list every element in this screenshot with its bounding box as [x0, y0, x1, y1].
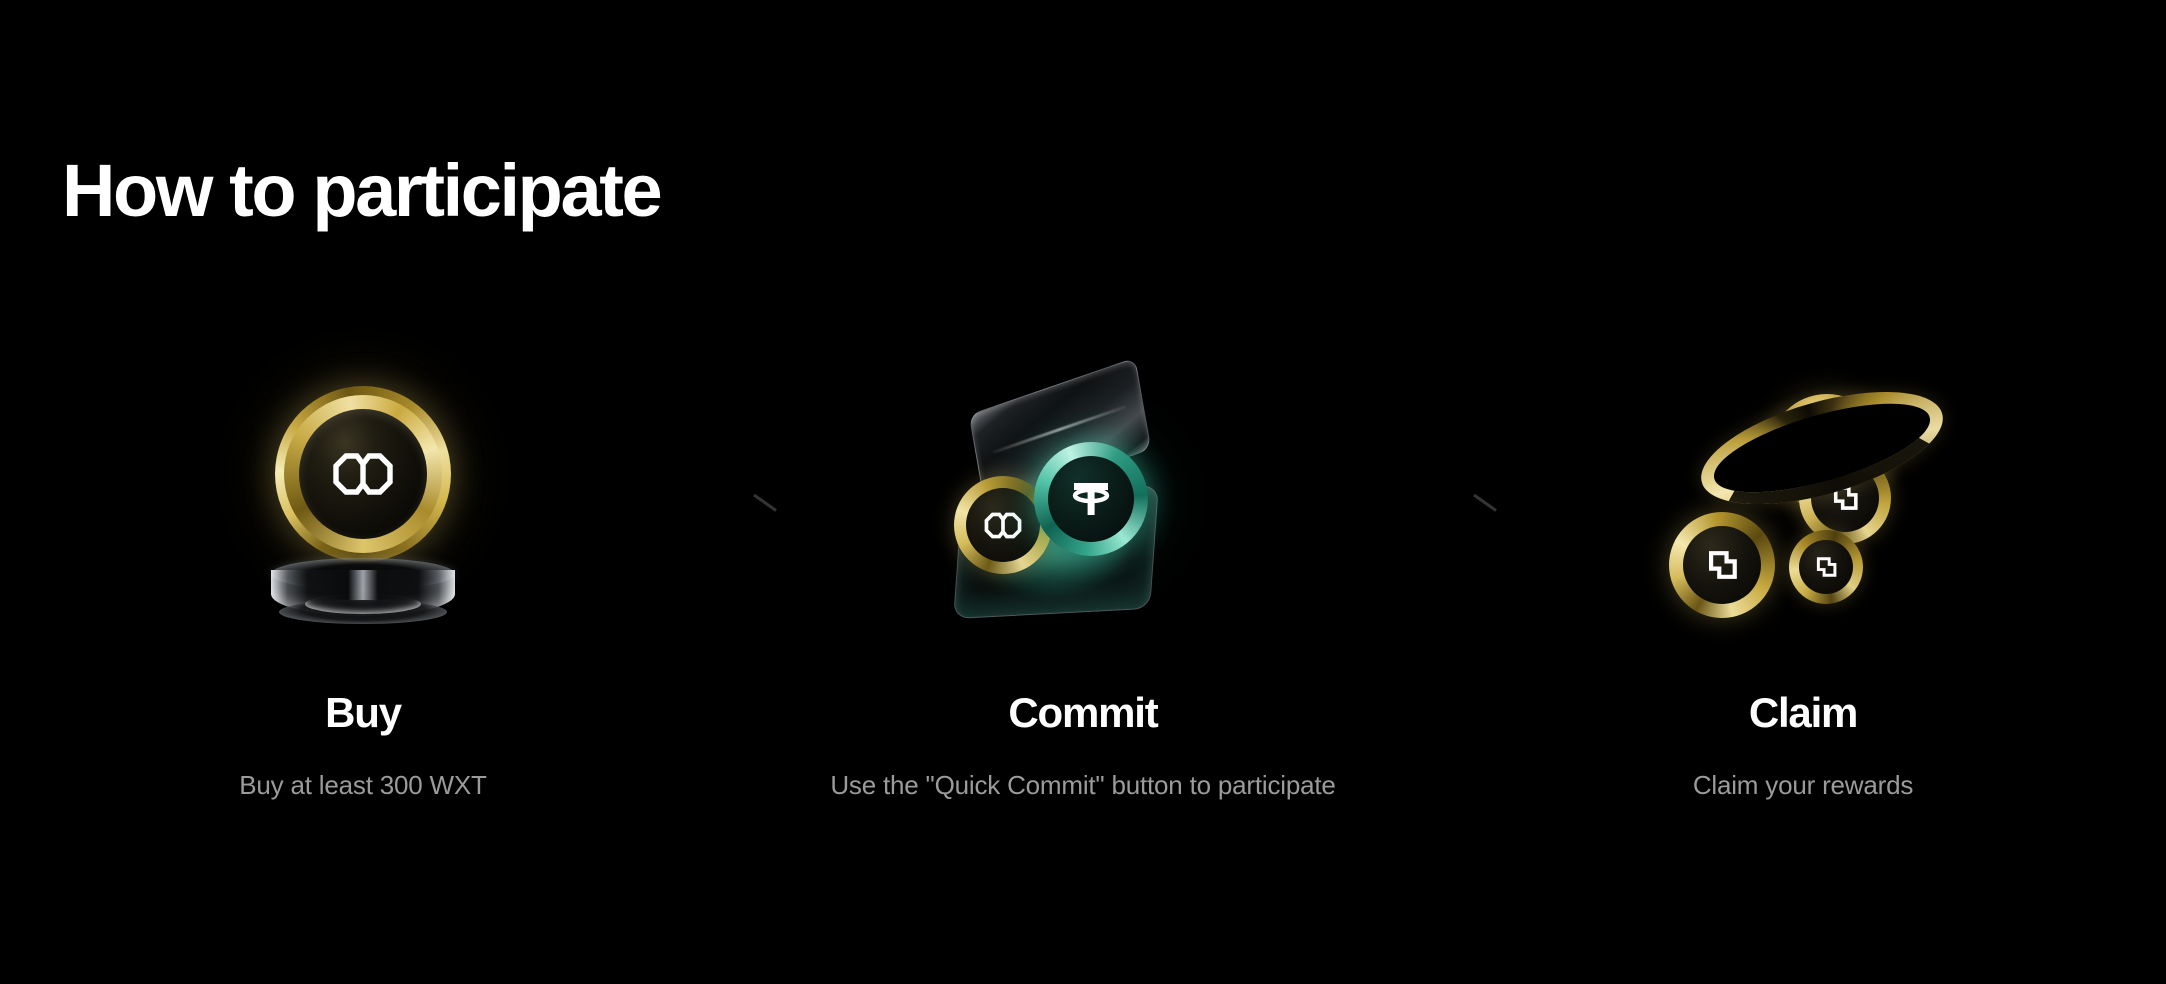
step-commit: Commit Use the "Quick Commit" button to … [813, 380, 1353, 801]
page-title: How to participate [62, 150, 660, 233]
step-commit-title: Commit [1008, 692, 1157, 734]
wxt-logo-icon [984, 512, 1022, 539]
connector-2 [1353, 380, 1533, 630]
pedestal-inner-highlight [305, 594, 421, 614]
open-glass-chest-with-coins-icon [938, 380, 1228, 630]
step-commit-illustration [933, 380, 1233, 630]
steps-row: Buy Buy at least 300 WXT [0, 380, 2166, 801]
gold-planet-with-floating-coins-icon [1653, 380, 1953, 630]
teal-usdt-coin-icon [1034, 442, 1148, 556]
step-claim-illustration [1653, 380, 1953, 630]
how-to-participate-section: How to participate [0, 0, 2166, 984]
step-commit-description: Use the "Quick Commit" button to partici… [830, 770, 1335, 801]
step-claim-description: Claim your rewards [1693, 770, 1913, 801]
arrow-right-icon [662, 492, 784, 518]
wxt-logo-icon [332, 452, 394, 496]
wxt-logo-icon [1812, 553, 1840, 581]
step-claim: Claim Claim your rewards [1533, 380, 2073, 801]
coin-face [1799, 540, 1853, 594]
glass-pedestal-icon [271, 558, 455, 624]
gold-wxt-coin-icon [1669, 512, 1775, 618]
coin-face [299, 409, 427, 539]
gold-wxt-coin-icon [1789, 530, 1863, 604]
coin-face [966, 488, 1040, 562]
step-buy: Buy Buy at least 300 WXT [93, 380, 633, 801]
gold-wxt-coin-icon [275, 386, 451, 562]
step-buy-description: Buy at least 300 WXT [239, 770, 486, 801]
step-buy-illustration [213, 380, 513, 630]
arrow-right-icon [1382, 492, 1504, 518]
gold-wxt-coin-on-glass-pedestal-icon [233, 380, 493, 630]
coin-face [1683, 526, 1761, 604]
wxt-logo-icon [1702, 545, 1742, 585]
connector-1 [633, 380, 813, 630]
tether-logo-icon [1068, 476, 1114, 522]
step-buy-title: Buy [325, 692, 401, 734]
step-claim-title: Claim [1749, 692, 1857, 734]
coin-face [1048, 456, 1134, 542]
